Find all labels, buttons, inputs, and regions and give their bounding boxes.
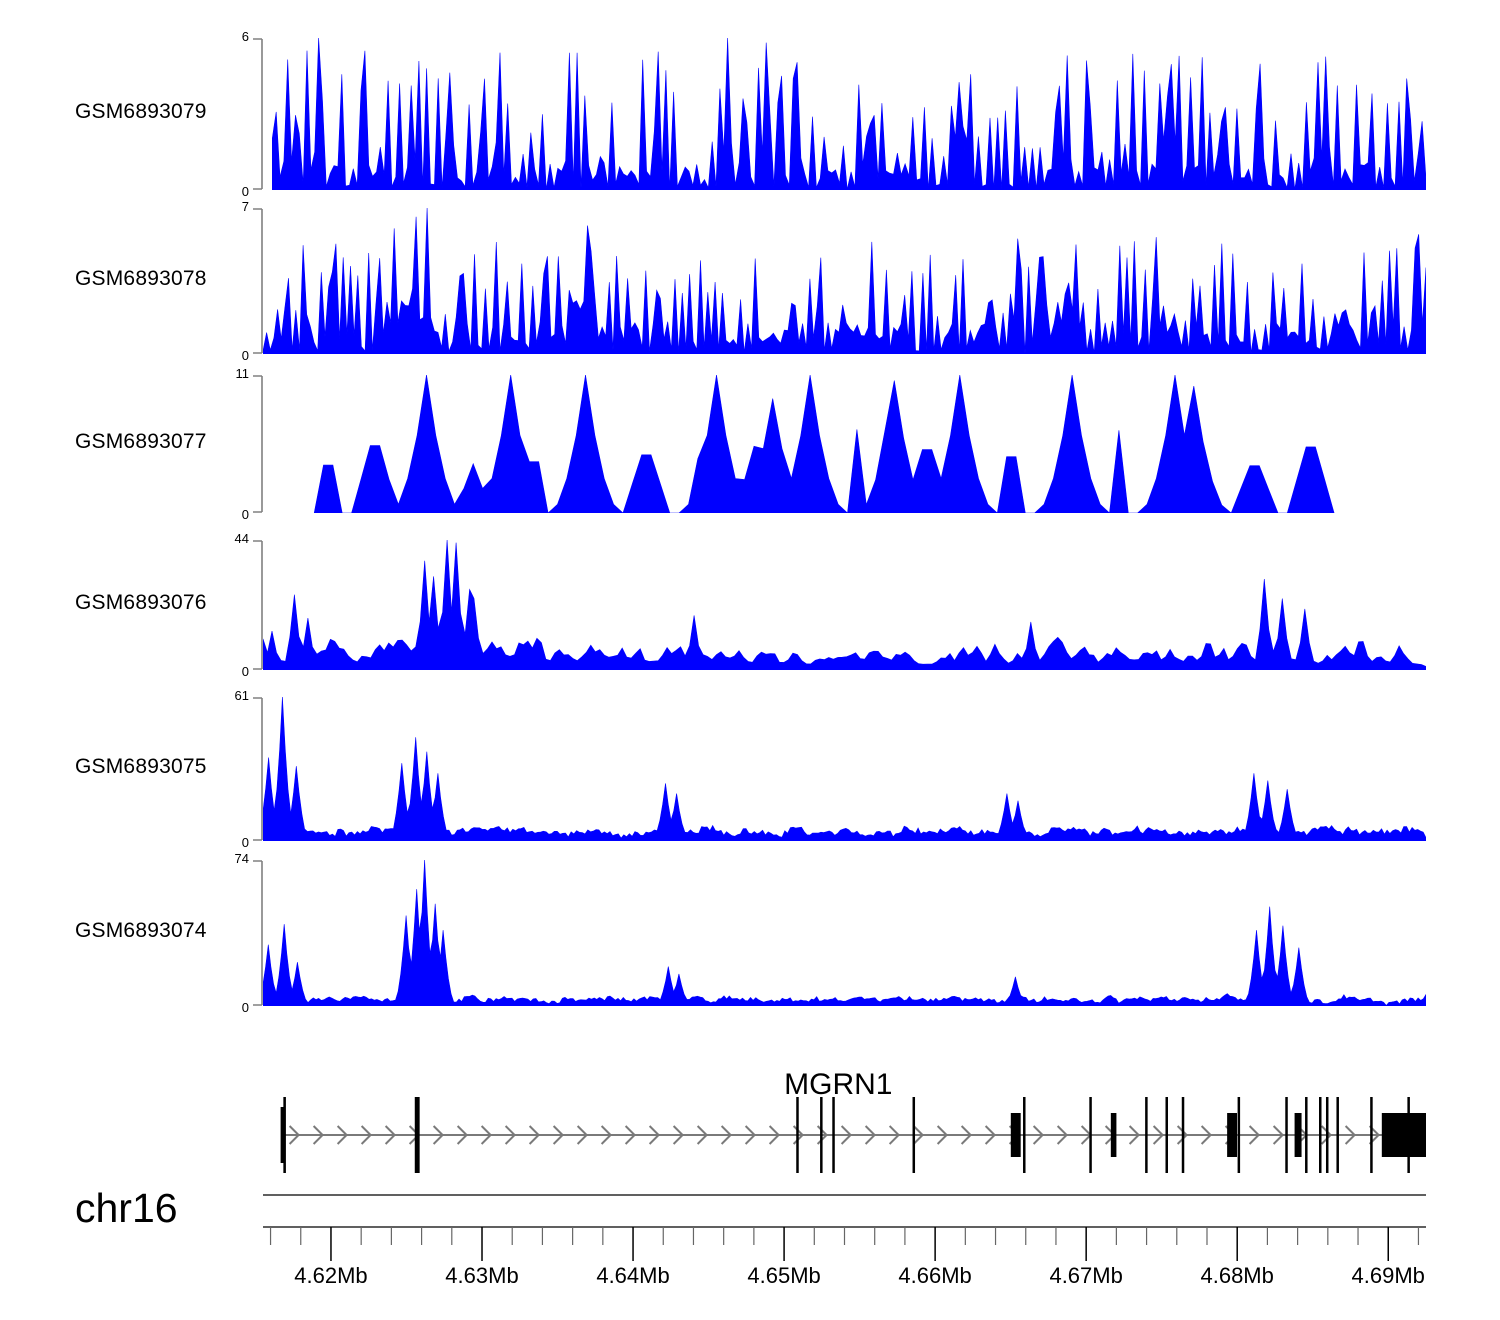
exon-block[interactable]: [1011, 1113, 1021, 1157]
y-axis-min-label: 0: [242, 507, 249, 522]
track-label: GSM6893079: [75, 100, 207, 124]
y-axis-min-label: 0: [242, 1000, 249, 1015]
exon-block[interactable]: [832, 1097, 835, 1173]
y-axis: 110: [251, 375, 263, 513]
exon-block[interactable]: [1111, 1113, 1117, 1157]
track-label: GSM6893077: [75, 430, 207, 454]
axis-tick-label: 4.66Mb: [898, 1263, 971, 1289]
axis-tick-label: 4.69Mb: [1352, 1263, 1425, 1289]
y-axis-bracket: [251, 697, 263, 841]
exon-block[interactable]: [1285, 1097, 1288, 1173]
exon-block[interactable]: [1295, 1113, 1302, 1157]
gene-start-marker: [281, 1107, 284, 1163]
exon-block[interactable]: [283, 1097, 286, 1173]
y-axis-min-label: 0: [242, 184, 249, 199]
exon-block[interactable]: [1238, 1097, 1241, 1173]
genome-axis[interactable]: 4.62Mb4.63Mb4.64Mb4.65Mb4.66Mb4.67Mb4.68…: [0, 1185, 1500, 1305]
y-axis-max-label: 74: [235, 851, 249, 866]
track-label: GSM6893074: [75, 919, 207, 943]
y-axis-bracket: [251, 860, 263, 1006]
genome-browser: GSM689307960GSM689307870GSM6893077110GSM…: [0, 0, 1500, 1320]
coverage-plot[interactable]: [263, 375, 1426, 513]
coverage-area: [263, 860, 1426, 1006]
y-axis-bracket: [251, 38, 263, 190]
y-axis: 70: [251, 208, 263, 354]
y-axis-bracket: [251, 208, 263, 354]
y-axis: 740: [251, 860, 263, 1006]
y-axis-min-label: 0: [242, 348, 249, 363]
coverage-track-gsm6893076[interactable]: GSM6893076440: [0, 540, 1500, 670]
y-axis-max-label: 61: [235, 688, 249, 703]
y-axis-max-label: 44: [235, 531, 249, 546]
y-axis-min-label: 0: [242, 664, 249, 679]
exon-block[interactable]: [415, 1097, 420, 1173]
coverage-track-gsm6893079[interactable]: GSM689307960: [0, 38, 1500, 190]
y-axis-bracket: [251, 375, 263, 513]
exon-block[interactable]: [1326, 1097, 1329, 1173]
coverage-area: [263, 697, 1426, 841]
gene-model-track[interactable]: MGRN1: [0, 1060, 1500, 1190]
axis-tick-label: 4.67Mb: [1049, 1263, 1122, 1289]
gene-model-svg[interactable]: [263, 1060, 1426, 1190]
coverage-track-gsm6893074[interactable]: GSM6893074740: [0, 860, 1500, 1006]
track-label: GSM6893078: [75, 267, 207, 291]
track-label: GSM6893075: [75, 755, 207, 779]
coverage-area: [272, 38, 1426, 190]
exon-block[interactable]: [1319, 1097, 1322, 1173]
coverage-area: [263, 540, 1426, 670]
exon-block[interactable]: [1023, 1097, 1026, 1173]
coverage-plot[interactable]: [263, 540, 1426, 670]
exon-block[interactable]: [1407, 1097, 1410, 1173]
exon-block[interactable]: [1305, 1097, 1308, 1173]
coverage-track-gsm6893078[interactable]: GSM689307870: [0, 208, 1500, 354]
exon-block[interactable]: [1145, 1097, 1148, 1173]
y-axis-min-label: 0: [242, 835, 249, 850]
y-axis-max-label: 7: [242, 199, 249, 214]
axis-tick-label: 4.62Mb: [294, 1263, 367, 1289]
exon-block[interactable]: [796, 1097, 799, 1173]
coverage-plot[interactable]: [263, 208, 1426, 354]
coverage-area: [314, 375, 1334, 513]
exon-block[interactable]: [1089, 1097, 1092, 1173]
axis-tick-label: 4.64Mb: [596, 1263, 669, 1289]
exon-block[interactable]: [1165, 1097, 1168, 1173]
coverage-plot[interactable]: [263, 38, 1426, 190]
axis-tick-label: 4.68Mb: [1200, 1263, 1273, 1289]
axis-tick-label: 4.63Mb: [445, 1263, 518, 1289]
y-axis: 440: [251, 540, 263, 670]
exon-block[interactable]: [1227, 1113, 1237, 1157]
exon-block[interactable]: [820, 1097, 823, 1173]
y-axis-max-label: 11: [236, 366, 250, 381]
coverage-track-gsm6893077[interactable]: GSM6893077110: [0, 375, 1500, 513]
axis-tick-label: 4.65Mb: [747, 1263, 820, 1289]
y-axis-max-label: 6: [242, 29, 249, 44]
coverage-plot[interactable]: [263, 860, 1426, 1006]
exon-block[interactable]: [1336, 1097, 1339, 1173]
exon-block[interactable]: [1370, 1097, 1373, 1173]
y-axis: 610: [251, 697, 263, 841]
exon-block[interactable]: [913, 1097, 916, 1173]
y-axis-bracket: [251, 540, 263, 670]
coverage-area: [263, 208, 1426, 354]
exon-block[interactable]: [1182, 1097, 1185, 1173]
exon-block[interactable]: [1382, 1113, 1426, 1157]
coverage-track-gsm6893075[interactable]: GSM6893075610: [0, 697, 1500, 841]
coverage-plot[interactable]: [263, 697, 1426, 841]
y-axis: 60: [251, 38, 263, 190]
track-label: GSM6893076: [75, 591, 207, 615]
